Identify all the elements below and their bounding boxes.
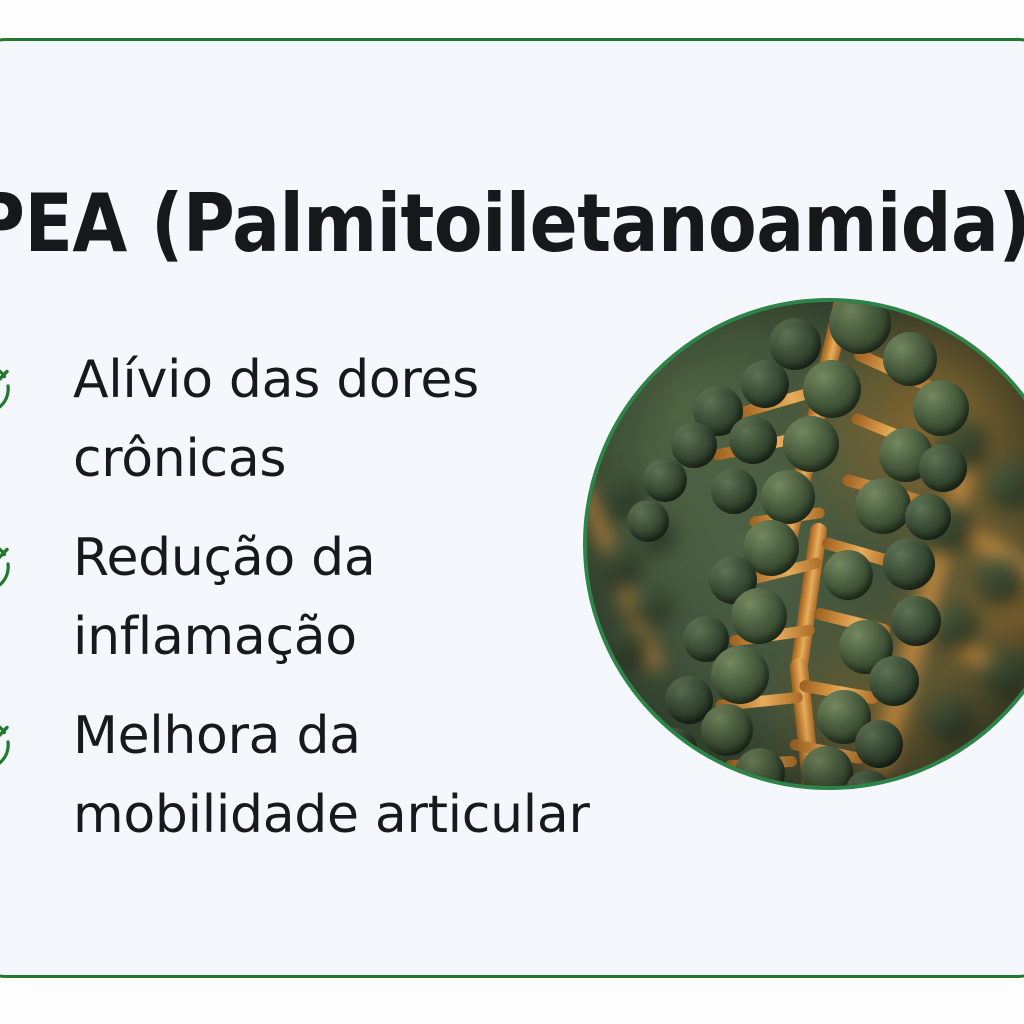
list-item-label: Melhora da mobilidade articular — [73, 697, 635, 855]
check-circle-icon — [0, 533, 17, 593]
benefits-list: Alívio das dores crônicas Redução da inf… — [0, 341, 635, 875]
plant-berries-photo — [583, 298, 1024, 790]
check-circle-icon — [0, 711, 17, 771]
list-item: Alívio das dores crônicas — [0, 341, 635, 499]
list-item-label: Redução da inflamação — [73, 519, 635, 677]
list-item: Redução da inflamação — [0, 519, 635, 677]
list-item-label: Alívio das dores crônicas — [73, 341, 635, 499]
check-circle-icon — [0, 355, 17, 415]
page-title: PEA (Palmitoiletanoamida) — [0, 181, 968, 267]
list-item: Melhora da mobilidade articular — [0, 697, 635, 855]
